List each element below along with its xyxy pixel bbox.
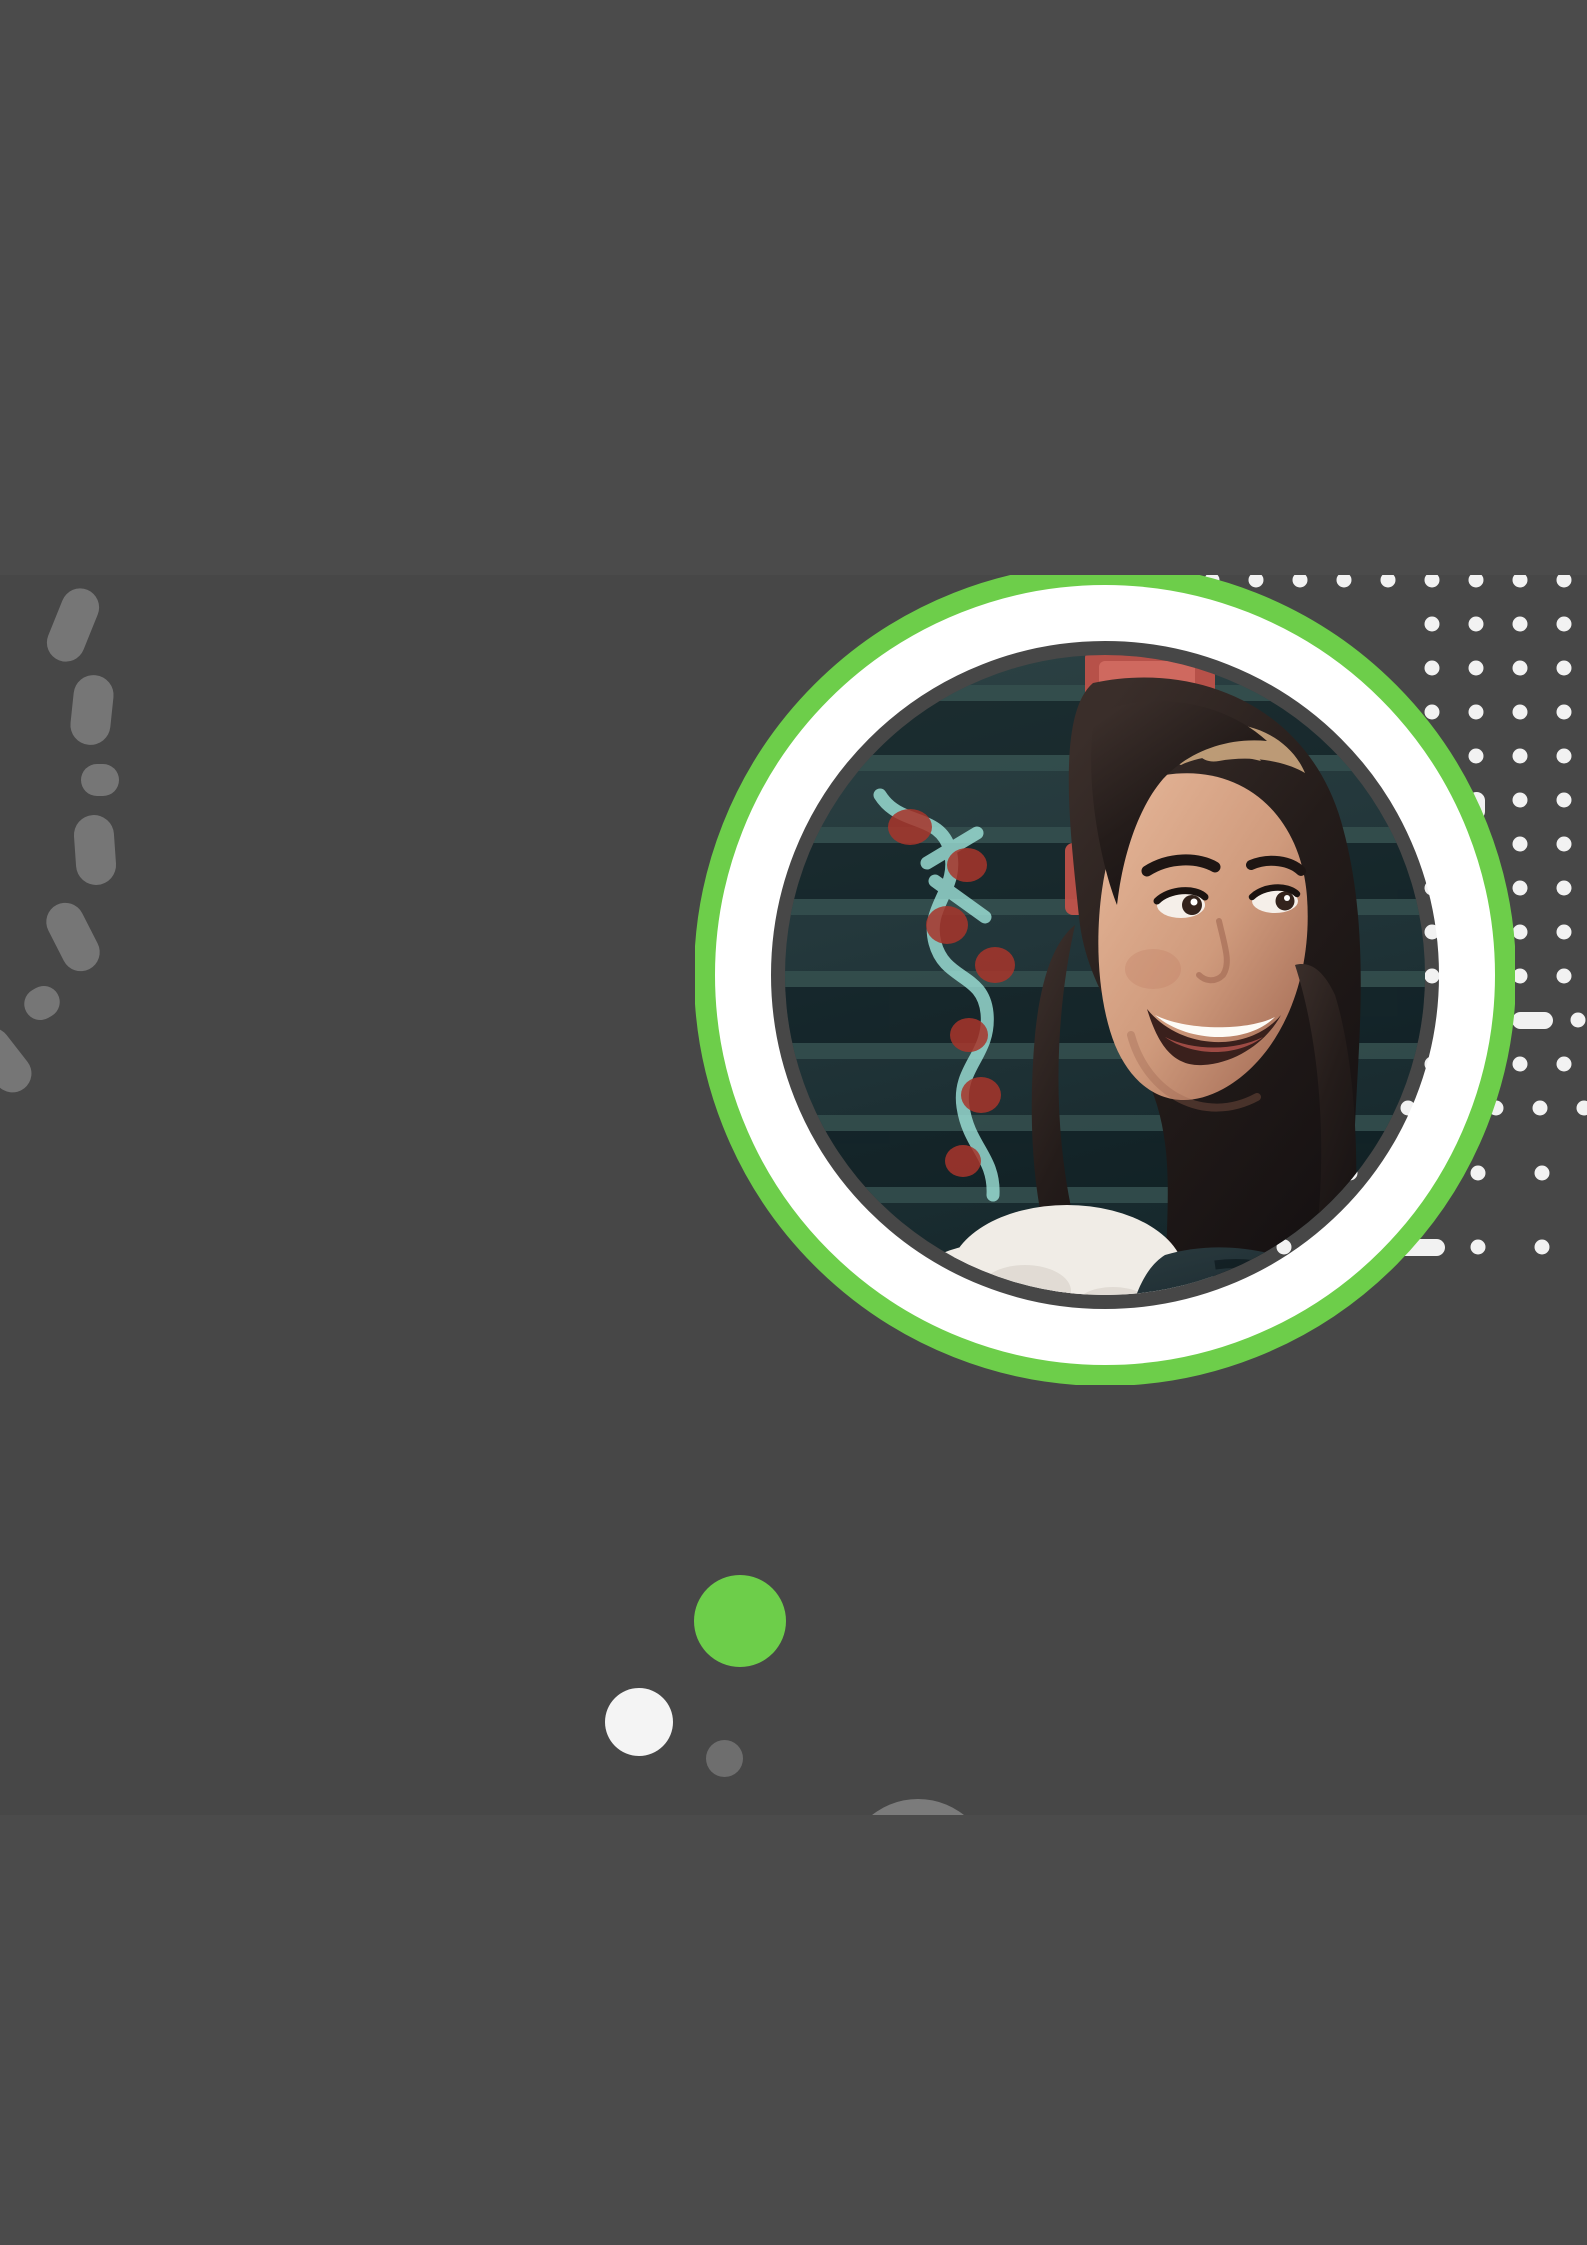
- cover-page-card: Building a Future-proof Organization Pre…: [0, 575, 1587, 1815]
- decor-circle-gray-small: [706, 1740, 743, 1777]
- decor-circle-white-medium: [605, 1688, 673, 1756]
- dashed-capsule-trail: [0, 575, 160, 1275]
- hero-portrait-photo: [695, 575, 1515, 1385]
- green-blob-accent: [694, 1575, 786, 1667]
- decor-circle-gray-large: [844, 1799, 992, 1815]
